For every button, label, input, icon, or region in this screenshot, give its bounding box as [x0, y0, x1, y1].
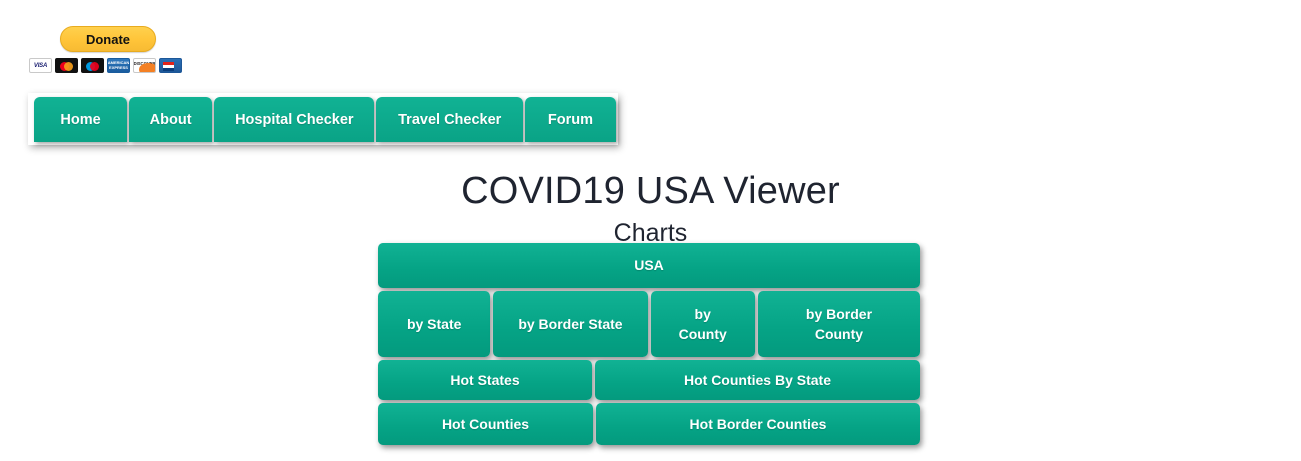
chart-button-usa-line1: USA [634, 255, 664, 275]
chart-button-by-border-county-line1: by Border [806, 304, 872, 324]
amex-card-icon: AMERICAN EXPRESS [107, 58, 130, 73]
chart-button-hot-border-counties-line1: Hot Border Counties [690, 414, 827, 434]
chart-button-by-county-line1: by [695, 304, 711, 324]
chart-button-hot-counties[interactable]: Hot Counties [378, 403, 593, 445]
chart-button-by-county-line2: County [679, 324, 727, 344]
chart-button-hot-states[interactable]: Hot States [378, 360, 592, 400]
chart-button-hot-counties-line1: Hot Counties [442, 414, 529, 434]
chart-grid-row-1: USA [378, 243, 920, 288]
nav-item-about[interactable]: About [129, 97, 212, 142]
donate-button[interactable]: Donate [60, 26, 156, 52]
payment-card-icons: VISA AMERICAN EXPRESS DISCOVER [28, 58, 188, 73]
chart-button-by-county[interactable]: by County [651, 291, 755, 357]
chart-grid-row-4: Hot Counties Hot Border Counties [378, 403, 920, 445]
chart-button-by-state-line1: by State [407, 314, 461, 334]
nav-item-travel-checker[interactable]: Travel Checker [376, 97, 522, 142]
chart-button-hot-counties-by-state[interactable]: Hot Counties By State [595, 360, 920, 400]
nav-item-hospital-checker[interactable]: Hospital Checker [214, 97, 374, 142]
chart-grid-row-2: by State by Border State by County by Bo… [378, 291, 920, 357]
main-navigation: Home About Hospital Checker Travel Check… [28, 93, 618, 145]
chart-grid-row-3: Hot States Hot Counties By State [378, 360, 920, 400]
mastercard-right-circle [64, 62, 73, 71]
chart-button-by-border-state-line1: by Border State [518, 314, 622, 334]
chart-button-hot-border-counties[interactable]: Hot Border Counties [596, 403, 920, 445]
visa-card-icon: VISA [29, 58, 52, 73]
maestro-right-circle [90, 62, 99, 71]
chart-button-grid: USA by State by Border State by County b… [378, 243, 920, 448]
chart-button-hot-states-line1: Hot States [450, 370, 519, 390]
maestro-card-icon [81, 58, 104, 73]
chart-button-by-state[interactable]: by State [378, 291, 490, 357]
chart-button-usa[interactable]: USA [378, 243, 920, 288]
jcb-stripe-blue [163, 68, 174, 71]
chart-button-by-border-county[interactable]: by Border County [758, 291, 920, 357]
nav-bar: Home About Hospital Checker Travel Check… [28, 93, 618, 145]
donate-block: Donate VISA AMERICAN EXPRESS DISCOVER [28, 26, 188, 73]
chart-button-hot-counties-by-state-line1: Hot Counties By State [684, 370, 831, 390]
visa-card-label: VISA [34, 63, 47, 69]
nav-item-forum[interactable]: Forum [525, 97, 616, 142]
nav-item-home[interactable]: Home [34, 97, 127, 142]
discover-card-label: DISCOVER [134, 61, 156, 66]
discover-card-icon: DISCOVER [133, 58, 156, 73]
chart-button-by-border-county-line2: County [815, 324, 863, 344]
chart-button-by-border-state[interactable]: by Border State [493, 291, 647, 357]
jcb-card-icon [159, 58, 182, 73]
page-title: COVID19 USA Viewer [0, 170, 1301, 213]
mastercard-card-icon [55, 58, 78, 73]
amex-card-label: AMERICAN EXPRESS [108, 61, 130, 69]
